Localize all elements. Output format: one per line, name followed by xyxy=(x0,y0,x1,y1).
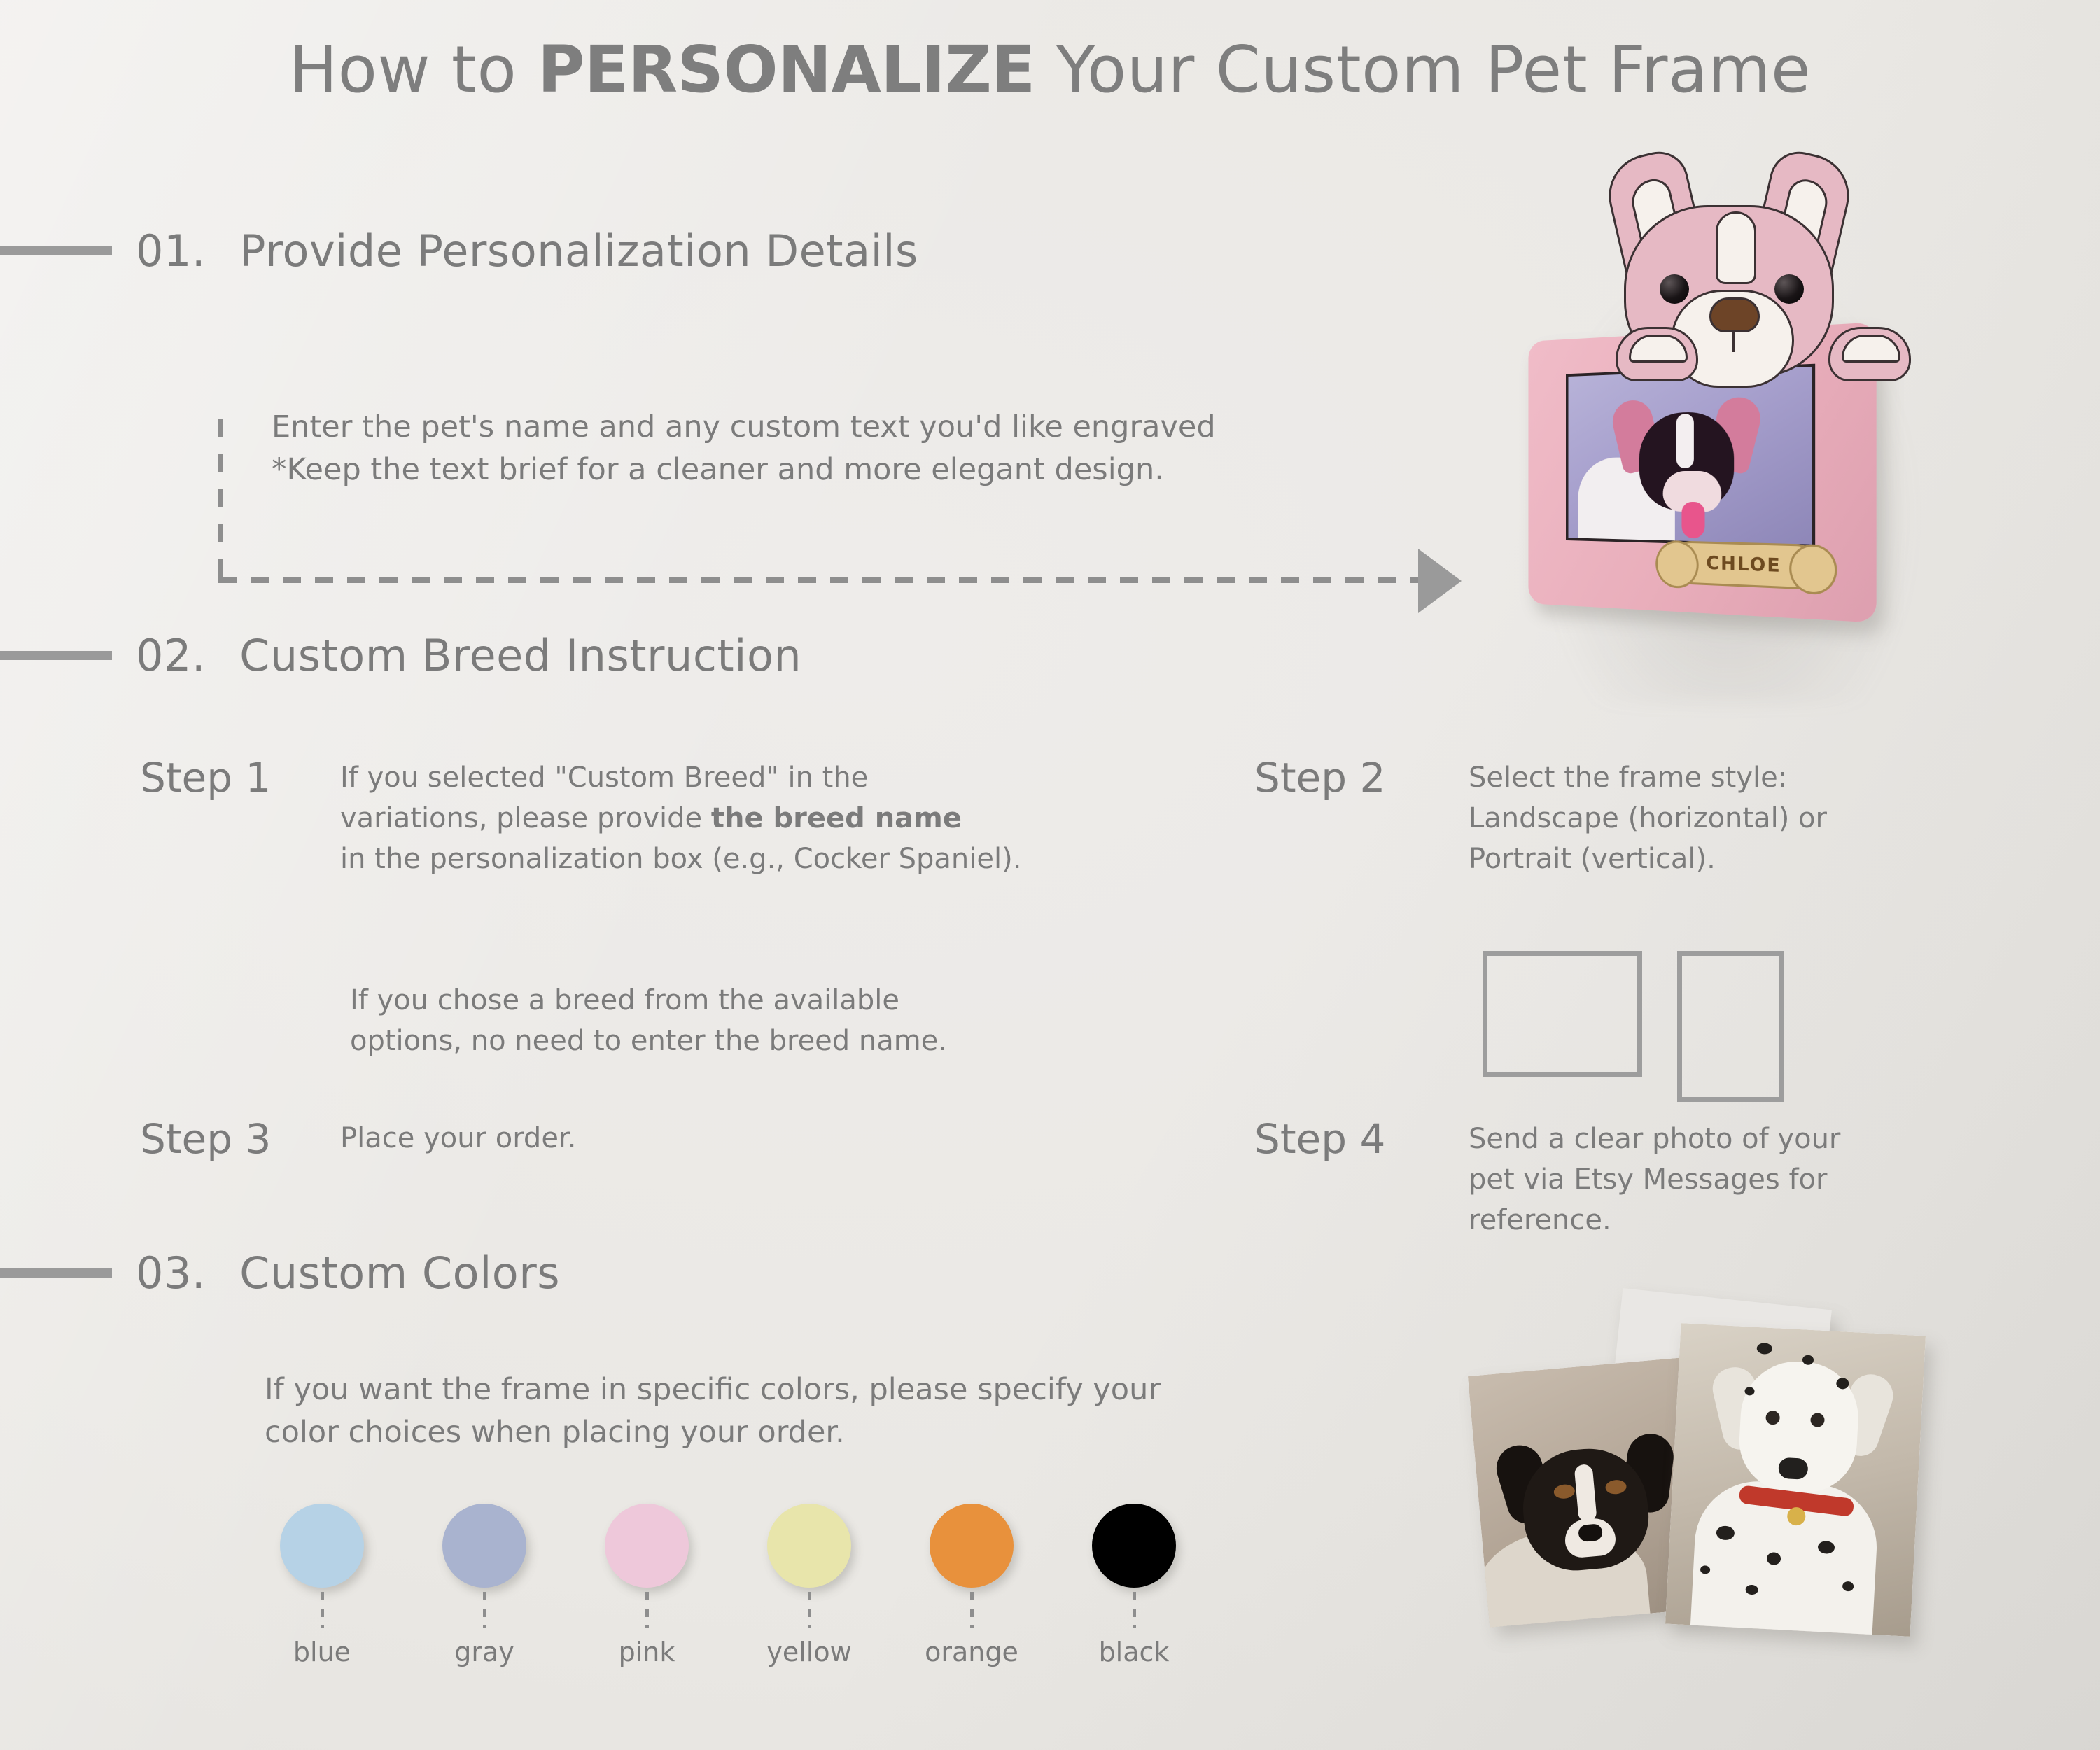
color-swatch-blue[interactable]: blue xyxy=(260,1504,384,1667)
color-swatch-orange[interactable]: orange xyxy=(910,1504,1033,1667)
section-title-03: Custom Colors xyxy=(239,1247,560,1298)
dog-nose xyxy=(1709,297,1760,332)
section-number-03: 03. xyxy=(136,1247,206,1298)
step-1-block: Step 1 If you selected "Custom Breed" in… xyxy=(140,757,1141,879)
inset-photo-dog-blaze xyxy=(1676,414,1694,468)
section-dash-icon xyxy=(0,1268,112,1277)
color-swatch-pink[interactable]: pink xyxy=(585,1504,708,1667)
step-3-block: Step 3 Place your order. xyxy=(140,1119,980,1164)
step-4-label: Step 4 xyxy=(1254,1119,1442,1159)
color-swatch-dot-blue[interactable] xyxy=(280,1504,364,1588)
section-header-03: 03. Custom Colors xyxy=(0,1247,560,1298)
color-swatch-label-blue: blue xyxy=(293,1637,351,1667)
dashed-bracket-horizontal xyxy=(218,577,1424,583)
dashed-bracket-vertical xyxy=(218,419,223,581)
step-1-line-2: variations, please provide the breed nam… xyxy=(340,798,1021,839)
color-swatch-black[interactable]: black xyxy=(1072,1504,1196,1667)
portrait-frame-option[interactable] xyxy=(1677,951,1784,1102)
dalmatian-nose xyxy=(1778,1457,1809,1480)
section-01-body: Enter the pet's name and any custom text… xyxy=(272,406,1476,491)
product-photo-pet-frame: CHLOE xyxy=(1505,150,1953,710)
step-4-block: Step 4 Send a clear photo of your pet vi… xyxy=(1254,1119,2045,1240)
color-swatch-connector-line xyxy=(483,1592,486,1628)
reference-photo-stack xyxy=(1463,1298,2023,1718)
reference-photo-dalmatian-image xyxy=(1665,1323,1926,1637)
step-4-line-3: reference. xyxy=(1469,1200,1840,1240)
color-swatch-connector-line xyxy=(808,1592,811,1628)
color-swatch-label-black: black xyxy=(1099,1637,1170,1667)
bone-nameplate: CHLOE xyxy=(1671,540,1820,590)
page-title-emphasis: PERSONALIZE xyxy=(538,32,1035,107)
step-1-line-1: If you selected "Custom Breed" in the xyxy=(340,757,1021,798)
step-2-line-2: Landscape (horizontal) or xyxy=(1469,798,1827,839)
section-dash-icon xyxy=(0,246,112,255)
section-title-02: Custom Breed Instruction xyxy=(239,630,801,681)
step-1-line-3: in the personalization box (e.g., Cocker… xyxy=(340,839,1021,879)
page-title-suffix: Your Custom Pet Frame xyxy=(1035,32,1811,107)
section-01-line-2: *Keep the text brief for a cleaner and m… xyxy=(272,449,1476,491)
frame-style-options xyxy=(1483,951,1784,1102)
step-2-block: Step 2 Select the frame style: Landscape… xyxy=(1254,757,2038,879)
color-swatch-gray[interactable]: gray xyxy=(423,1504,546,1667)
step-3-label: Step 3 xyxy=(140,1119,314,1159)
color-swatch-dot-orange[interactable] xyxy=(930,1504,1014,1588)
step-4-text: Send a clear photo of your pet via Etsy … xyxy=(1469,1119,1840,1240)
step-3-text: Place your order. xyxy=(340,1118,576,1158)
color-swatch-dot-gray[interactable] xyxy=(442,1504,526,1588)
color-swatch-dot-pink[interactable] xyxy=(605,1504,689,1588)
dog-paw-pad-right xyxy=(1842,335,1900,363)
color-swatch-connector-line xyxy=(645,1592,649,1628)
frame-dog-topper xyxy=(1589,150,1869,381)
step-1b-line-1: If you chose a breed from the available xyxy=(350,980,1190,1021)
frame-photo-window xyxy=(1566,364,1815,547)
color-swatch-connector-line xyxy=(321,1592,324,1628)
section-03-body: If you want the frame in specific colors… xyxy=(265,1368,1455,1454)
color-swatch-label-yellow: yellow xyxy=(766,1637,851,1667)
color-swatch-connector-line xyxy=(970,1592,974,1628)
section-number-01: 01. xyxy=(136,225,206,276)
section-header-02: 02. Custom Breed Instruction xyxy=(0,630,801,681)
section-title-01: Provide Personalization Details xyxy=(239,225,918,276)
section-number-02: 02. xyxy=(136,630,206,681)
inset-photo-dog-tongue xyxy=(1681,502,1704,539)
page-title: How to PERSONALIZE Your Custom Pet Frame xyxy=(0,36,2100,104)
step-2-text: Select the frame style: Landscape (horiz… xyxy=(1469,757,1827,879)
color-swatch-connector-line xyxy=(1133,1592,1136,1628)
step-2-line-3: Portrait (vertical). xyxy=(1469,839,1827,879)
color-swatch-yellow[interactable]: yellow xyxy=(748,1504,871,1667)
page-title-prefix: How to xyxy=(289,32,538,107)
step-1-label: Step 1 xyxy=(140,757,314,798)
color-swatch-row: bluegraypinkyelloworangeblack xyxy=(260,1504,1196,1667)
reference-photo-dalmatian xyxy=(1665,1323,1926,1637)
step-1-breed-name-emphasis: the breed name xyxy=(711,802,962,834)
color-swatch-dot-black[interactable] xyxy=(1092,1504,1176,1588)
section-03-line-2: color choices when placing your order. xyxy=(265,1411,1455,1454)
color-swatch-label-pink: pink xyxy=(619,1637,675,1667)
color-swatch-label-gray: gray xyxy=(454,1637,514,1667)
step-1-text: If you selected "Custom Breed" in the va… xyxy=(340,757,1021,879)
section-03-line-1: If you want the frame in specific colors… xyxy=(265,1368,1455,1411)
step-4-line-1: Send a clear photo of your xyxy=(1469,1119,1840,1159)
dog-forehead-blaze xyxy=(1716,211,1756,284)
color-swatch-label-orange: orange xyxy=(925,1637,1018,1667)
landscape-frame-option[interactable] xyxy=(1483,951,1642,1077)
dog-paw-pad-left xyxy=(1629,335,1688,363)
color-swatch-dot-yellow[interactable] xyxy=(767,1504,851,1588)
step-1-secondary-text: If you chose a breed from the available … xyxy=(350,980,1190,1061)
section-01-line-1: Enter the pet's name and any custom text… xyxy=(272,406,1476,449)
step-4-line-2: pet via Etsy Messages for xyxy=(1469,1159,1840,1200)
step-2-line-1: Select the frame style: xyxy=(1469,757,1827,798)
dog-eye-left xyxy=(1660,274,1689,304)
dog-paw-right xyxy=(1828,327,1911,381)
dog-paw-left xyxy=(1616,327,1698,381)
arrow-head-icon xyxy=(1418,549,1462,613)
section-header-01: 01. Provide Personalization Details xyxy=(0,225,918,276)
section-dash-icon xyxy=(0,651,112,660)
dog-mouth xyxy=(1732,332,1735,352)
bone-nameplate-text: CHLOE xyxy=(1673,542,1817,588)
step-1-line-2-plain: variations, please provide xyxy=(340,802,711,834)
step-2-label: Step 2 xyxy=(1254,757,1442,798)
step-1b-line-2: options, no need to enter the breed name… xyxy=(350,1021,1190,1061)
dog-eye-right xyxy=(1774,274,1804,304)
